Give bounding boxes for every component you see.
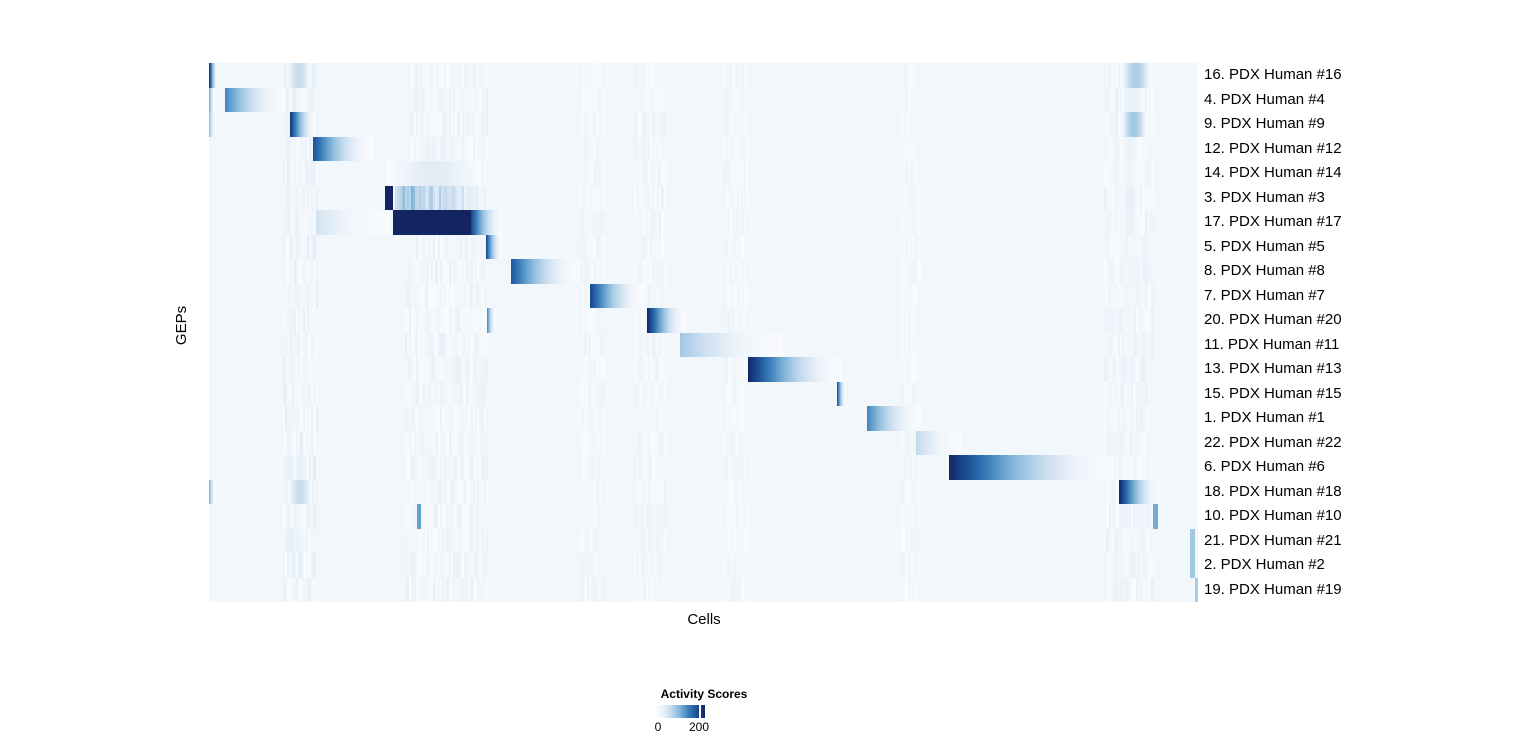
heatmap-stripe-cluster: [580, 382, 605, 407]
heatmap-block: [748, 357, 842, 382]
heatmap-row: [209, 63, 1198, 88]
row-label: 20. PDX Human #20: [1204, 308, 1342, 333]
heatmap-stripe-cluster: [283, 186, 318, 211]
heatmap-stripe-cluster: [723, 235, 748, 260]
heatmap-block: [209, 112, 216, 137]
heatmap-stripe-cluster: [405, 137, 488, 162]
heatmap-block: [647, 308, 686, 333]
colorbar-tick-mark: [699, 705, 701, 718]
heatmap-stripe-cluster: [580, 259, 605, 284]
heatmap-stripe-cluster: [283, 406, 318, 431]
heatmap-stripe-cluster: [405, 431, 488, 456]
heatmap-row: [209, 308, 1198, 333]
heatmap-row: [209, 235, 1198, 260]
heatmap-stripe-cluster: [1104, 259, 1153, 284]
row-label: 13. PDX Human #13: [1204, 357, 1342, 382]
heatmap-block: [680, 333, 783, 358]
heatmap-stripe-cluster: [723, 112, 748, 137]
heatmap-block: [1121, 186, 1139, 211]
heatmap-block: [1121, 63, 1151, 88]
heatmap-block: [511, 259, 580, 284]
heatmap-row: [209, 553, 1198, 578]
heatmap-stripe-cluster: [1104, 406, 1153, 431]
heatmap-stripe-cluster: [723, 88, 748, 113]
row-label: 4. PDX Human #4: [1204, 88, 1325, 113]
heatmap-stripe-cluster: [723, 259, 748, 284]
colorbar-tick-label-1: 200: [689, 720, 709, 734]
heatmap-stripe-cluster: [634, 382, 666, 407]
heatmap-stripe-cluster: [634, 455, 666, 480]
heatmap-stripe-cluster: [405, 578, 488, 603]
heatmap-stripe-cluster: [405, 455, 488, 480]
heatmap-stripe-cluster: [634, 553, 666, 578]
heatmap-row: [209, 504, 1198, 529]
heatmap-stripe-cluster: [901, 259, 921, 284]
heatmap-stripe-cluster: [634, 333, 666, 358]
heatmap-block: [313, 137, 373, 162]
heatmap-figure: GEPs 16. PDX Human #164. PDX Human #49. …: [0, 0, 1540, 743]
heatmap-stripe-cluster: [634, 235, 666, 260]
heatmap-stripe-cluster: [580, 431, 605, 456]
heatmap-block: [1195, 578, 1198, 603]
row-label: 11. PDX Human #11: [1204, 333, 1339, 358]
heatmap-block: [916, 431, 961, 456]
heatmap-stripe-cluster: [901, 578, 921, 603]
heatmap-row: [209, 333, 1198, 358]
heatmap-stripe-cluster: [283, 578, 318, 603]
heatmap-stripe-cluster: [405, 112, 488, 137]
row-label: 3. PDX Human #3: [1204, 186, 1325, 211]
heatmap-stripe-cluster: [283, 504, 318, 529]
heatmap-stripe-cluster: [580, 357, 605, 382]
heatmap-stripe-cluster: [901, 284, 921, 309]
heatmap-stripe-cluster: [1104, 431, 1153, 456]
colorbar-tick-label-0: 0: [655, 720, 662, 734]
row-label: 17. PDX Human #17: [1204, 210, 1342, 235]
heatmap-stripe-cluster: [405, 529, 488, 554]
heatmap-block: [837, 382, 846, 407]
heatmap-stripe-cluster: [580, 161, 605, 186]
heatmap-block: [225, 88, 286, 113]
colorbar-title: Activity Scores: [600, 687, 808, 701]
row-label: 2. PDX Human #2: [1204, 553, 1325, 578]
heatmap-stripe-cluster: [723, 186, 748, 211]
heatmap-block: [590, 284, 644, 309]
heatmap-stripe-cluster: [283, 333, 318, 358]
heatmap-block: [949, 455, 1114, 480]
heatmap-stripe-cluster: [580, 88, 605, 113]
heatmap-stripe-cluster: [283, 308, 318, 333]
heatmap-stripe-cluster: [723, 382, 748, 407]
heatmap-block: [209, 88, 215, 113]
heatmap-stripe-cluster: [405, 480, 488, 505]
heatmap-stripe-cluster: [405, 357, 488, 382]
heatmap-stripe-cluster: [283, 382, 318, 407]
heatmap-block: [1121, 88, 1144, 113]
row-label: 7. PDX Human #7: [1204, 284, 1325, 309]
heatmap-stripe-cluster: [723, 406, 748, 431]
heatmap-stripe-cluster: [901, 504, 921, 529]
heatmap-stripe-cluster: [580, 235, 605, 260]
heatmap-block: [471, 210, 503, 235]
heatmap-stripe-cluster: [901, 210, 921, 235]
heatmap-stripe-cluster: [634, 112, 666, 137]
heatmap-stripe-cluster: [634, 357, 666, 382]
heatmap-plot-area: [209, 63, 1198, 602]
y-axis-title-text: GEPs: [174, 305, 191, 344]
row-label: 21. PDX Human #21: [1204, 529, 1342, 554]
heatmap-block: [1190, 553, 1195, 578]
row-label: 14. PDX Human #14: [1204, 161, 1342, 186]
heatmap-stripe-cluster: [283, 235, 318, 260]
heatmap-row: [209, 186, 1198, 211]
heatmap-stripe-cluster: [723, 431, 748, 456]
heatmap-stripe-cluster: [901, 137, 921, 162]
heatmap-stripe-cluster: [1104, 333, 1153, 358]
heatmap-row: [209, 480, 1198, 505]
heatmap-stripe-cluster: [901, 161, 921, 186]
heatmap-block: [1153, 504, 1158, 529]
heatmap-row: [209, 161, 1198, 186]
heatmap-stripe-cluster: [1104, 235, 1153, 260]
heatmap-stripe-cluster: [1104, 308, 1153, 333]
heatmap-stripe-cluster: [634, 186, 666, 211]
row-label: 16. PDX Human #16: [1204, 63, 1342, 88]
heatmap-stripe-cluster: [634, 259, 666, 284]
heatmap-stripe-cluster: [580, 137, 605, 162]
heatmap-stripe-cluster: [283, 284, 318, 309]
heatmap-block: [1121, 161, 1139, 186]
heatmap-stripe-cluster: [723, 455, 748, 480]
heatmap-stripe-cluster: [283, 259, 318, 284]
heatmap-stripe-cluster: [901, 308, 921, 333]
heatmap-block: [287, 63, 311, 88]
heatmap-stripe-cluster: [580, 480, 605, 505]
row-label: 22. PDX Human #22: [1204, 431, 1342, 456]
heatmap-stripe-cluster: [580, 308, 605, 333]
heatmap-stripe-cluster: [283, 455, 318, 480]
heatmap-stripe-cluster: [901, 455, 921, 480]
row-label: 18. PDX Human #18: [1204, 480, 1342, 505]
heatmap-stripe-cluster: [723, 480, 748, 505]
heatmap-row: [209, 259, 1198, 284]
x-axis-title: Cells: [604, 611, 804, 628]
heatmap-stripe-cluster: [283, 529, 318, 554]
heatmap-row: [209, 529, 1198, 554]
heatmap-block: [487, 308, 496, 333]
heatmap-block: [290, 112, 316, 137]
heatmap-stripe-cluster: [634, 88, 666, 113]
row-label: 9. PDX Human #9: [1204, 112, 1325, 137]
heatmap-block: [385, 186, 393, 211]
heatmap-stripe-cluster: [901, 88, 921, 113]
heatmap-stripe-cluster: [580, 504, 605, 529]
heatmap-row: [209, 112, 1198, 137]
heatmap-row: [209, 431, 1198, 456]
heatmap-stripe-cluster: [634, 210, 666, 235]
heatmap-stripe-cluster: [405, 406, 488, 431]
heatmap-row: [209, 284, 1198, 309]
heatmap-stripe-cluster: [634, 431, 666, 456]
heatmap-stripe-cluster: [580, 63, 605, 88]
heatmap-stripe-cluster: [634, 578, 666, 603]
heatmap-stripe-cluster: [1104, 357, 1153, 382]
heatmap-stripe-cluster: [405, 235, 488, 260]
heatmap-stripe-cluster: [901, 63, 921, 88]
heatmap-block: [209, 480, 216, 505]
heatmap-stripe-cluster: [283, 357, 318, 382]
heatmap-stripe-cluster: [283, 553, 318, 578]
heatmap-block: [417, 504, 421, 529]
heatmap-block: [1121, 210, 1139, 235]
heatmap-stripe-cluster: [723, 284, 748, 309]
heatmap-stripe-cluster: [1104, 382, 1153, 407]
heatmap-stripe-cluster: [723, 210, 748, 235]
heatmap-stripe-cluster: [723, 553, 748, 578]
heatmap-stripe-cluster: [901, 333, 921, 358]
heatmap-stripe-cluster: [634, 161, 666, 186]
heatmap-row: [209, 406, 1198, 431]
heatmap-stripe-cluster: [405, 284, 488, 309]
heatmap-stripe-cluster: [634, 504, 666, 529]
heatmap-stripe-cluster: [580, 578, 605, 603]
heatmap-stripe-cluster: [723, 63, 748, 88]
heatmap-stripe-cluster: [634, 480, 666, 505]
heatmap-block: [1121, 137, 1139, 162]
colorbar-legend: Activity Scores 0200: [600, 687, 900, 737]
heatmap-row: [209, 210, 1198, 235]
heatmap-block: [387, 161, 481, 186]
heatmap-stripe-cluster: [580, 406, 605, 431]
heatmap-block: [1119, 480, 1161, 505]
heatmap-stripe-cluster: [723, 504, 748, 529]
heatmap-stripe-cluster: [723, 578, 748, 603]
heatmap-stripe-cluster: [283, 210, 318, 235]
heatmap-stripe-cluster: [901, 553, 921, 578]
heatmap-stripe-cluster: [1104, 284, 1153, 309]
heatmap-stripe-cluster: [580, 112, 605, 137]
row-label: 15. PDX Human #15: [1204, 382, 1342, 407]
heatmap-row: [209, 382, 1198, 407]
heatmap-block: [1121, 112, 1147, 137]
heatmap-row: [209, 88, 1198, 113]
heatmap-row: [209, 455, 1198, 480]
heatmap-row: [209, 137, 1198, 162]
heatmap-block: [1190, 529, 1195, 554]
heatmap-row: [209, 578, 1198, 603]
heatmap-block: [393, 210, 471, 235]
heatmap-stripe-cluster: [405, 88, 488, 113]
heatmap-block: [395, 186, 478, 211]
heatmap-row: [209, 357, 1198, 382]
heatmap-stripe-cluster: [405, 308, 488, 333]
heatmap-stripe-cluster: [723, 529, 748, 554]
heatmap-stripe-cluster: [405, 333, 488, 358]
heatmap-block: [486, 235, 502, 260]
heatmap-stripe-cluster: [580, 333, 605, 358]
heatmap-stripe-cluster: [283, 431, 318, 456]
row-label: 5. PDX Human #5: [1204, 235, 1325, 260]
heatmap-stripe-cluster: [901, 529, 921, 554]
heatmap-row-labels: 16. PDX Human #164. PDX Human #49. PDX H…: [1204, 63, 1534, 602]
row-label: 6. PDX Human #6: [1204, 455, 1325, 480]
y-axis-title: GEPs: [170, 290, 194, 360]
heatmap-stripe-cluster: [405, 553, 488, 578]
heatmap-stripe-cluster: [580, 186, 605, 211]
heatmap-stripe-cluster: [1104, 553, 1153, 578]
heatmap-stripe-cluster: [405, 63, 488, 88]
heatmap-stripe-cluster: [283, 161, 318, 186]
colorbar-gradient: [655, 705, 705, 718]
heatmap-stripe-cluster: [405, 382, 488, 407]
heatmap-stripe-cluster: [723, 137, 748, 162]
heatmap-stripe-cluster: [405, 259, 488, 284]
heatmap-stripe-cluster: [580, 210, 605, 235]
heatmap-stripe-cluster: [723, 357, 748, 382]
heatmap-stripe-cluster: [580, 529, 605, 554]
x-axis-title-text: Cells: [687, 611, 720, 628]
heatmap-block: [867, 406, 921, 431]
heatmap-stripe-cluster: [723, 161, 748, 186]
heatmap-block: [209, 63, 218, 88]
heatmap-stripe-cluster: [634, 137, 666, 162]
row-label: 19. PDX Human #19: [1204, 578, 1342, 603]
heatmap-stripe-cluster: [634, 406, 666, 431]
heatmap-stripe-cluster: [634, 63, 666, 88]
row-label: 10. PDX Human #10: [1204, 504, 1342, 529]
heatmap-stripe-cluster: [901, 186, 921, 211]
heatmap-stripe-cluster: [723, 308, 748, 333]
heatmap-stripe-cluster: [1104, 578, 1153, 603]
heatmap-stripe-cluster: [901, 357, 921, 382]
heatmap-stripe-cluster: [901, 382, 921, 407]
heatmap-stripe-cluster: [901, 112, 921, 137]
heatmap-stripe-cluster: [1104, 529, 1153, 554]
heatmap-stripe-cluster: [580, 553, 605, 578]
heatmap-stripe-cluster: [283, 88, 318, 113]
heatmap-stripe-cluster: [580, 455, 605, 480]
heatmap-block: [288, 480, 312, 505]
heatmap-stripe-cluster: [1104, 504, 1153, 529]
heatmap-stripe-cluster: [634, 529, 666, 554]
heatmap-block: [316, 210, 389, 235]
heatmap-stripe-cluster: [901, 235, 921, 260]
row-label: 1. PDX Human #1: [1204, 406, 1325, 431]
row-label: 12. PDX Human #12: [1204, 137, 1342, 162]
row-label: 8. PDX Human #8: [1204, 259, 1325, 284]
heatmap-stripe-cluster: [901, 480, 921, 505]
